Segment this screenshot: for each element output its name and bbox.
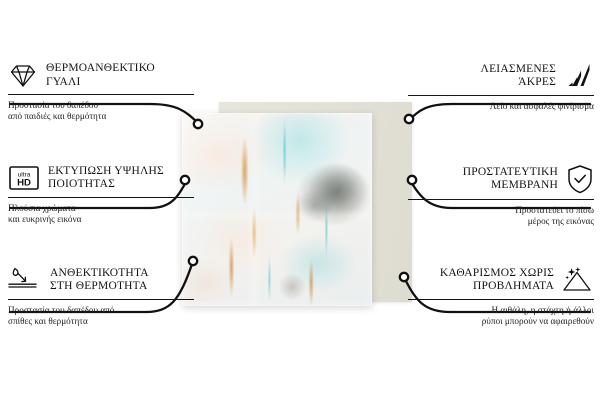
- diamond-icon: [8, 63, 38, 89]
- feature-description: Προστασία του δαπέδου από σπίθες και θερ…: [8, 305, 194, 328]
- feature-divider: [8, 197, 194, 198]
- diagonal-stripes-icon: [564, 62, 594, 90]
- feature-heat-durability: ΑΝΘΕΚΤΙΚΟΤΗΤΑ ΣΤΗ ΘΕΡΜΟΤΗΤΑ Προστασία το…: [8, 266, 194, 328]
- feature-header: ΑΝΘΕΚΤΙΚΟΤΗΤΑ ΣΤΗ ΘΕΡΜΟΤΗΤΑ: [8, 266, 194, 294]
- glass-edge-highlight: [182, 113, 372, 306]
- feature-protective-membrane: ΠΡΟΣΤΑΤΕΥΤΙΚΗ ΜΕΜΒΡΑΝΗ Προστατεύει το πί…: [408, 164, 594, 228]
- feature-divider: [408, 299, 594, 300]
- feature-divider: [408, 199, 594, 200]
- product-image-group: [176, 102, 424, 310]
- feature-title: ΑΝΘΕΚΤΙΚΟΤΗΤΑ ΣΤΗ ΘΕΡΜΟΤΗΤΑ: [50, 267, 149, 294]
- feature-header: ΠΡΟΣΤΑΤΕΥΤΙΚΗ ΜΕΜΒΡΑΝΗ: [408, 164, 594, 194]
- sparkle-clean-icon: [562, 266, 594, 294]
- feature-header: ΚΑΘΑΡΙΣΜΟΣ ΧΩΡΙΣ ΠΡΟΒΛΗΜΑΤΑ: [408, 266, 594, 294]
- feature-header: ΛΕΙΑΣΜΕΝΕΣ ΆΚΡΕΣ: [408, 62, 594, 90]
- feature-title: ΠΡΟΣΤΑΤΕΥΤΙΚΗ ΜΕΜΒΡΑΝΗ: [463, 166, 558, 193]
- feature-title: ΚΑΘΑΡΙΣΜΟΣ ΧΩΡΙΣ ΠΡΟΒΛΗΜΑΤΑ: [440, 267, 554, 294]
- ultra-hd-icon-bottom-text: HD: [17, 178, 31, 189]
- feature-header: ultra HD ΕΚΤΥΠΩΣΗ ΥΨΗΛΗΣ ΠΟΙΟΤΗΤΑΣ: [8, 164, 194, 192]
- feature-title: ΘΕΡΜΟΑΝΘΕΚΤΙΚΟ ΓΥΑΛΙ: [46, 62, 155, 89]
- feature-description: Πλούσια χρώματα και ευκρινής εικόνα: [8, 203, 194, 226]
- glass-panel-product: [182, 113, 372, 306]
- feature-heat-resistant-glass: ΘΕΡΜΟΑΝΘΕΚΤΙΚΟ ΓΥΑΛΙ Προστασία του δαπέδ…: [8, 62, 194, 123]
- feature-title: ΛΕΙΑΣΜΕΝΕΣ ΆΚΡΕΣ: [481, 63, 556, 90]
- infographic-canvas: ΘΕΡΜΟΑΝΘΕΚΤΙΚΟ ΓΥΑΛΙ Προστασία του δαπέδ…: [0, 0, 600, 400]
- feature-high-quality-print: ultra HD ΕΚΤΥΠΩΣΗ ΥΨΗΛΗΣ ΠΟΙΟΤΗΤΑΣ Πλούσ…: [8, 164, 194, 226]
- feature-divider: [8, 94, 194, 95]
- feature-description: Προστασία του δαπέδου από παιδιές και θε…: [8, 100, 194, 123]
- feature-header: ΘΕΡΜΟΑΝΘΕΚΤΙΚΟ ΓΥΑΛΙ: [8, 62, 194, 89]
- feature-easy-cleaning: ΚΑΘΑΡΙΣΜΟΣ ΧΩΡΙΣ ΠΡΟΒΛΗΜΑΤΑ Η αιθάλη, η …: [408, 266, 594, 328]
- feature-description: Η αιθάλη, η στάχτη ή άλλοι ρύποι μπορούν…: [408, 305, 594, 328]
- feature-divider: [408, 95, 594, 96]
- flame-deflect-icon: [8, 266, 42, 294]
- shield-check-icon: [566, 164, 594, 194]
- feature-description: Λείο και ασφαλές φινίρισμα: [408, 101, 594, 112]
- feature-title: ΕΚΤΥΠΩΣΗ ΥΨΗΛΗΣ ΠΟΙΟΤΗΤΑΣ: [48, 165, 164, 192]
- feature-description: Προστατεύει το πίσω μέρος της εικόνας: [408, 205, 594, 228]
- feature-divider: [8, 299, 194, 300]
- ultra-hd-icon: ultra HD: [8, 164, 40, 192]
- feature-polished-edges: ΛΕΙΑΣΜΕΝΕΣ ΆΚΡΕΣ Λείο και ασφαλές φινίρι…: [408, 62, 594, 112]
